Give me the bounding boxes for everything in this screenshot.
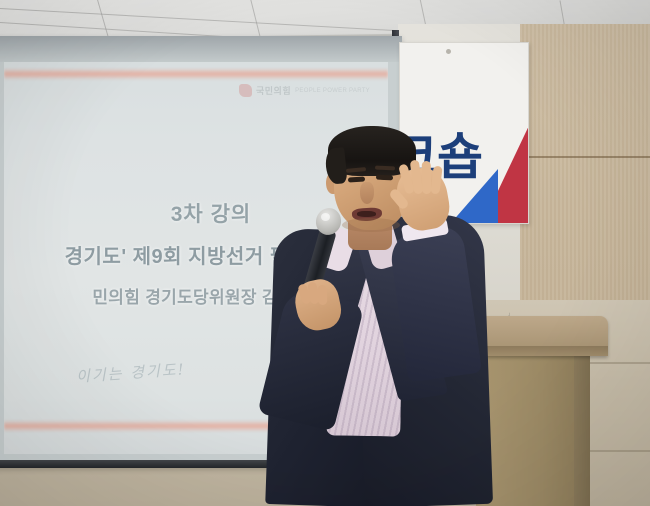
party-logo-subtext: PEOPLE POWER PARTY bbox=[295, 88, 370, 94]
party-logo-mark bbox=[239, 84, 252, 97]
speaker bbox=[256, 124, 496, 506]
podium-edge bbox=[574, 356, 590, 506]
nose bbox=[360, 182, 374, 204]
finger bbox=[318, 285, 328, 305]
slide-band-top bbox=[4, 68, 388, 80]
microphone-highlight bbox=[321, 213, 330, 221]
party-logo: 국민의힘 PEOPLE POWER PARTY bbox=[239, 84, 370, 97]
chin-shadow bbox=[342, 218, 400, 232]
slide-handwritten-slogan: 이기는 경기도! bbox=[75, 358, 186, 387]
banner-dot bbox=[446, 49, 451, 54]
eye-right bbox=[376, 175, 393, 181]
screen-top-shadow bbox=[0, 36, 402, 62]
mouth-opening bbox=[357, 211, 376, 217]
party-logo-text: 국민의힘 bbox=[256, 84, 291, 97]
photo-scene: 국민의힘 PEOPLE POWER PARTY 3차 강의 경기도' 제9회 지… bbox=[0, 0, 650, 506]
